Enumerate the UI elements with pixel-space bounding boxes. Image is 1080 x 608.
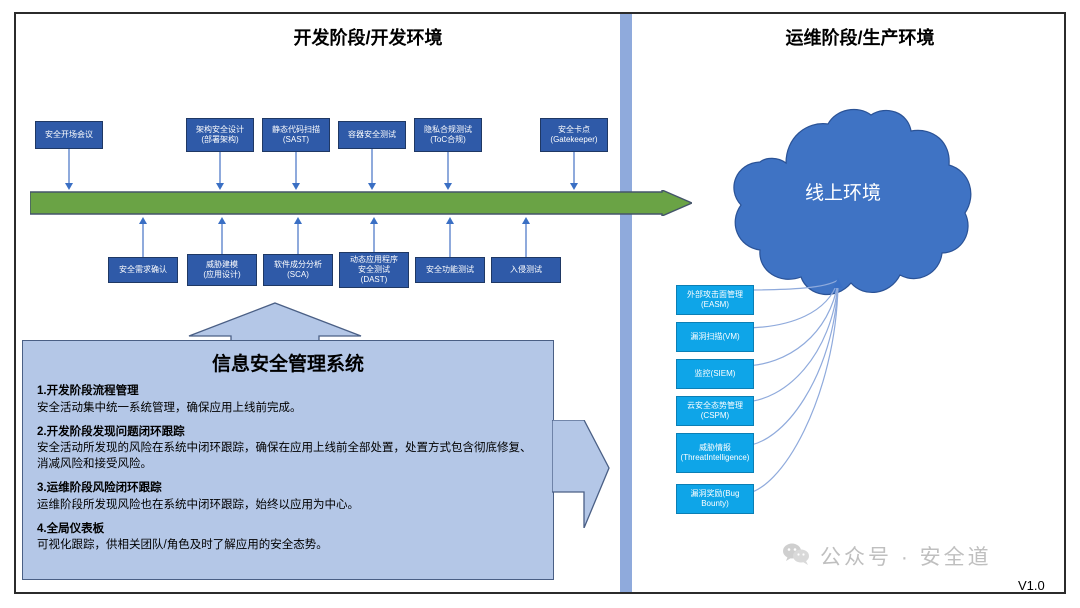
ops-capability-label-3: 云安全态势管理(CSPM) [678,401,752,420]
bottom-arrowhead-4 [446,217,454,224]
bottom-activity-box-label-0: 安全需求确认 [119,265,167,275]
bottom-connector-2 [297,223,299,254]
isms-block-2: 3.运维阶段风险闭环跟踪运维阶段所发现风险也在系统中闭环跟踪，始终以应用为中心。 [37,481,539,513]
top-activity-box-2[interactable]: 静态代码扫描(SAST) [262,118,330,152]
bottom-activity-box-2[interactable]: 软件成分分析(SCA) [263,254,333,286]
bottom-activity-box-label-5: 入侵测试 [510,265,542,275]
top-arrowhead-2 [292,183,300,190]
isms-title: 信息安全管理系统 [37,349,539,376]
bottom-arrowhead-0 [139,217,147,224]
top-connector-1 [219,152,221,183]
ops-capability-box-0[interactable]: 外部攻击面管理(EASM) [676,285,754,315]
isms-block-body-2: 运维阶段所发现风险也在系统中闭环跟踪，始终以应用为中心。 [37,497,539,513]
top-connector-5 [573,152,575,183]
development-flow-arrow [30,190,692,216]
bottom-activity-box-label-4: 安全功能测试 [426,265,474,275]
bottom-activity-box-label-2: 软件成分分析(SCA) [274,260,322,280]
top-arrowhead-3 [368,183,376,190]
wechat-icon [782,542,812,571]
ops-capability-box-1[interactable]: 漏洞扫描(VM) [676,322,754,352]
ops-capability-box-2[interactable]: 监控(SIEM) [676,359,754,389]
diagram-canvas: 开发阶段/开发环境 运维阶段/生产环境 安全开场会议架构安全设计(部署架构)静态… [0,0,1080,608]
ops-capability-label-1: 漏洞扫描(VM) [690,332,739,342]
bottom-activity-box-0[interactable]: 安全需求确认 [108,257,178,283]
ops-to-cloud-connectors [742,278,852,518]
top-arrowhead-4 [444,183,452,190]
isms-block-heading-0: 1.开发阶段流程管理 [37,384,539,400]
top-connector-0 [68,149,70,183]
top-activity-box-0[interactable]: 安全开场会议 [35,121,103,149]
top-activity-box-4[interactable]: 隐私合规测试(ToC合规) [414,118,482,152]
bottom-activity-box-5[interactable]: 入侵测试 [491,257,561,283]
bottom-arrowhead-2 [294,217,302,224]
isms-block-body-1: 安全活动所发现的风险在系统中闭环跟踪，确保在应用上线前全部处置，处置方式包含彻底… [37,440,539,472]
top-activity-box-label-2: 静态代码扫描(SAST) [272,125,320,145]
production-cloud-label: 线上环境 [708,178,978,205]
ops-capability-label-2: 监控(SIEM) [695,369,736,379]
bottom-connector-1 [221,223,223,254]
top-arrowhead-0 [65,183,73,190]
bottom-connector-0 [142,223,144,257]
bottom-activity-box-1[interactable]: 威胁建模(应用设计) [187,254,257,286]
section-title-operations: 运维阶段/生产环境 [700,24,1020,50]
top-activity-box-1[interactable]: 架构安全设计(部署架构) [186,118,254,152]
ops-capability-label-5: 漏洞奖励(Bug Bounty) [678,489,752,508]
top-activity-box-3[interactable]: 容器安全测试 [338,121,406,149]
version-label: V1.0 [1018,578,1045,593]
isms-block-heading-2: 3.运维阶段风险闭环跟踪 [37,481,539,497]
ops-capability-label-4: 威胁情报(ThreatIntelligence) [678,443,752,462]
isms-block-3: 4.全局仪表板可视化跟踪，供相关团队/角色及时了解应用的安全态势。 [37,522,539,554]
section-title-development: 开发阶段/开发环境 [188,24,548,50]
top-arrowhead-1 [216,183,224,190]
ops-capability-label-0: 外部攻击面管理(EASM) [678,290,752,309]
isms-panel: 信息安全管理系统 1.开发阶段流程管理安全活动集中统一系统管理，确保应用上线前完… [22,340,554,580]
ops-capability-box-5[interactable]: 漏洞奖励(Bug Bounty) [676,484,754,514]
isms-block-heading-1: 2.开发阶段发现问题闭环跟踪 [37,425,539,441]
top-arrowhead-5 [570,183,578,190]
watermark: 公众号 · 安全道 [782,538,1050,574]
ops-capability-box-3[interactable]: 云安全态势管理(CSPM) [676,396,754,426]
isms-block-body-3: 可视化跟踪，供相关团队/角色及时了解应用的安全态势。 [37,537,539,553]
top-activity-box-label-3: 容器安全测试 [348,130,396,140]
bottom-connector-3 [373,223,375,252]
top-connector-2 [295,152,297,183]
top-activity-box-label-0: 安全开场会议 [45,130,93,140]
bottom-arrowhead-5 [522,217,530,224]
top-activity-box-5[interactable]: 安全卡点(Gatekeeper) [540,118,608,152]
top-activity-box-label-1: 架构安全设计(部署架构) [196,125,244,145]
bottom-activity-box-label-3: 动态应用程序安全测试(DAST) [350,255,398,284]
isms-block-1: 2.开发阶段发现问题闭环跟踪安全活动所发现的风险在系统中闭环跟踪，确保在应用上线… [37,425,539,473]
top-connector-3 [371,149,373,183]
bottom-activity-box-4[interactable]: 安全功能测试 [415,257,485,283]
bottom-activity-box-3[interactable]: 动态应用程序安全测试(DAST) [339,252,409,288]
bottom-arrowhead-3 [370,217,378,224]
bottom-connector-4 [449,223,451,257]
isms-block-heading-3: 4.全局仪表板 [37,522,539,538]
isms-up-arrow [188,302,362,344]
bottom-arrowhead-1 [218,217,226,224]
bottom-connector-5 [525,223,527,257]
watermark-text: 公众号 · 安全道 [820,541,992,571]
top-connector-4 [447,152,449,183]
isms-blocks: 1.开发阶段流程管理安全活动集中统一系统管理，确保应用上线前完成。2.开发阶段发… [37,384,539,554]
isms-right-arrow [552,420,610,528]
isms-block-body-0: 安全活动集中统一系统管理，确保应用上线前完成。 [37,400,539,416]
top-activity-box-label-5: 安全卡点(Gatekeeper) [550,125,597,145]
ops-capability-box-4[interactable]: 威胁情报(ThreatIntelligence) [676,433,754,473]
isms-block-0: 1.开发阶段流程管理安全活动集中统一系统管理，确保应用上线前完成。 [37,384,539,416]
bottom-activity-box-label-1: 威胁建模(应用设计) [203,260,240,280]
top-activity-box-label-4: 隐私合规测试(ToC合规) [424,125,472,145]
phase-divider [620,14,632,592]
